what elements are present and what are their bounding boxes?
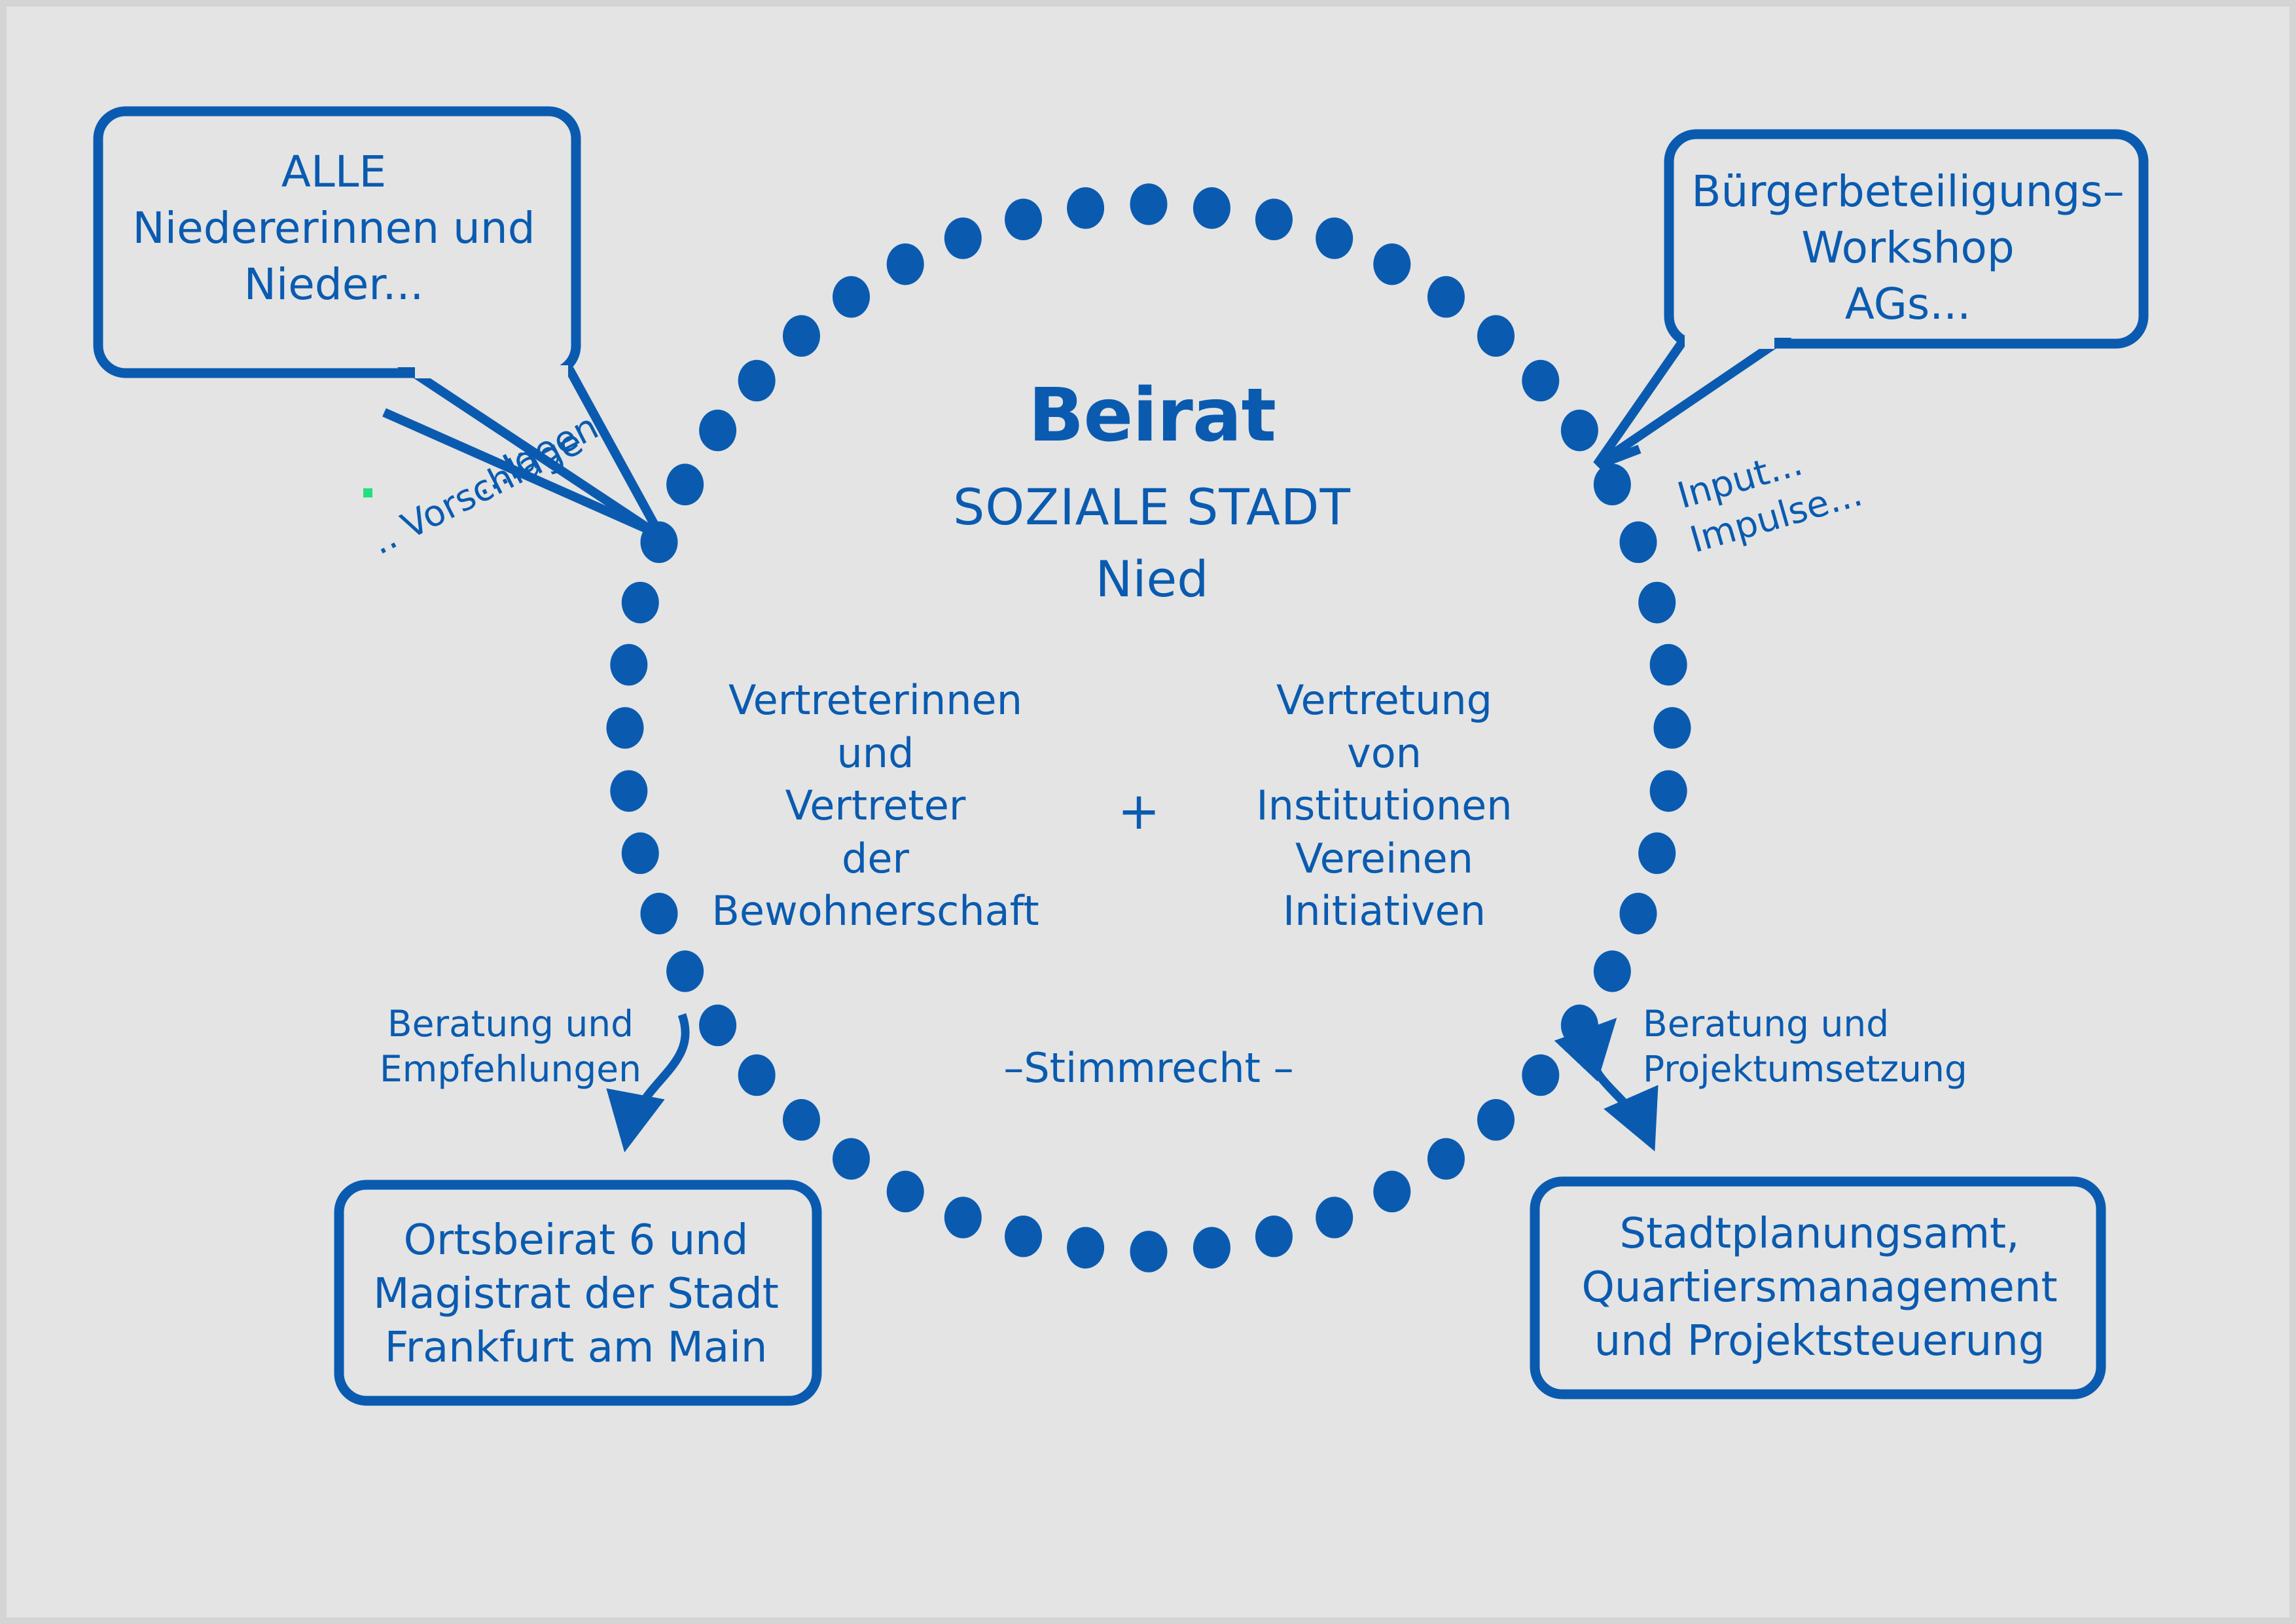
circle-dot [833, 1138, 870, 1180]
circle-dot [1005, 198, 1042, 240]
speech-bubble-left-label: ALLE Niedererinnen und Nieder... [105, 144, 563, 312]
circle-dot [1477, 315, 1515, 357]
center-title: Beirat [785, 373, 1518, 458]
speech-bubble-right-label: Bürgerbeteiligungs– Workshop AGs... [1679, 164, 2137, 332]
center-column-right: Vertretung von Institutionen Vereinen In… [1214, 674, 1554, 938]
center-subtitle-line-1: SOZIALE STADT [785, 478, 1518, 536]
circle-dot [1654, 707, 1691, 749]
circle-dot [1594, 950, 1631, 992]
speech-bubble-right-tail [1597, 342, 1777, 465]
plus-symbol: + [1093, 782, 1185, 841]
circle-dot [1620, 893, 1657, 935]
circle-dot [1561, 410, 1598, 452]
circle-dot [1193, 187, 1230, 229]
circle-dot [1638, 833, 1676, 875]
circle-dot [666, 463, 704, 505]
circle-dot [738, 1055, 776, 1096]
circle-dot [887, 1171, 924, 1213]
arrow-beratung-projektumsetzung [1592, 1028, 1649, 1139]
circle-dot [738, 360, 776, 402]
circle-dot [1130, 1231, 1168, 1272]
circle-dot [622, 582, 659, 624]
circle-dot [1620, 522, 1657, 564]
circle-dot [1561, 1005, 1598, 1047]
circle-dot [640, 893, 677, 935]
circle-dot [1255, 1216, 1293, 1257]
annotation-beratung-projektumsetzung: Beratung und Projektumsetzung [1643, 1001, 1957, 1092]
circle-dot [1477, 1099, 1515, 1141]
circle-dot [610, 770, 647, 812]
stimmrecht-note: –Stimmrecht – [920, 1044, 1378, 1092]
circle-dot [622, 833, 659, 875]
diagram-canvas: ALLE Niedererinnen und Nieder... Bürgerb… [0, 0, 2296, 1624]
circle-dot [666, 950, 704, 992]
circle-dot [699, 1005, 736, 1047]
circle-dot [699, 410, 736, 452]
circle-dot [783, 1099, 820, 1141]
circle-dot [1193, 1227, 1230, 1269]
green-marker-dot [363, 488, 372, 497]
circle-dot [1130, 183, 1168, 225]
circle-dot [1594, 463, 1631, 505]
circle-dot [783, 315, 820, 357]
circle-dot [1255, 198, 1293, 240]
circle-dot [1316, 1197, 1353, 1238]
center-subtitle-line-2: Nied [785, 550, 1518, 608]
circle-dot [1316, 217, 1353, 259]
circle-dot [944, 217, 982, 259]
circle-dot [1067, 1227, 1104, 1269]
circle-dot [1522, 360, 1559, 402]
circle-dot [833, 276, 870, 318]
circle-dot [1522, 1055, 1559, 1096]
circle-dot [944, 1197, 982, 1238]
circle-dot [887, 244, 924, 285]
circle-dot [1373, 1171, 1410, 1213]
circle-dot [1650, 644, 1687, 686]
box-left-label: Ortsbeirat 6 und Magistrat der Stadt Fra… [347, 1214, 805, 1375]
annotation-beratung-empfehlungen: Beratung und Empfehlungen [373, 1001, 648, 1092]
circle-dot [1067, 187, 1104, 229]
circle-dot [610, 644, 647, 686]
circle-dot [1005, 1216, 1042, 1257]
box-right-label: Stadtplanungsamt, Quartiersmanagement un… [1545, 1208, 2094, 1369]
circle-dot [607, 707, 644, 749]
circle-dot [1373, 244, 1410, 285]
circle-dot [1427, 1138, 1465, 1180]
center-column-left: Vertreterinnen und Vertreter der Bewohne… [697, 674, 1054, 938]
circle-dot [1650, 770, 1687, 812]
circle-dot [1638, 582, 1676, 624]
circle-dot [1427, 276, 1465, 318]
